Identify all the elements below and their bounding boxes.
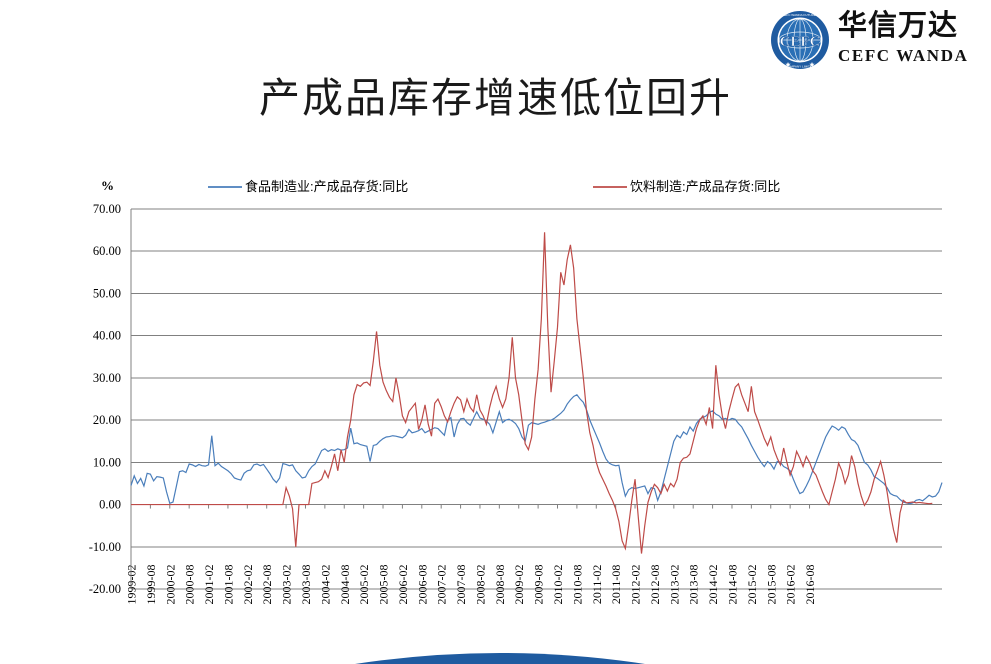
x-tick-label: 2005-08: [377, 565, 391, 605]
y-tick-label: 0.00: [99, 498, 121, 512]
x-tick-label: 2015-02: [745, 565, 759, 605]
x-tick-label: 2006-08: [415, 565, 429, 605]
y-axis-unit-label: %: [101, 178, 114, 193]
x-tick-label: 2001-02: [202, 565, 216, 605]
series-line-beverage-manufacturing: [131, 232, 932, 553]
x-tick-label: 2013-02: [667, 565, 681, 605]
y-tick-label: -20.00: [89, 582, 121, 596]
x-tick-label: 2010-08: [570, 565, 584, 605]
x-tick-label: 2014-02: [706, 565, 720, 605]
chart-container: 70.0060.0050.0040.0030.0020.0010.000.00-…: [0, 0, 991, 620]
line-chart: 70.0060.0050.0040.0030.0020.0010.000.00-…: [0, 0, 991, 620]
y-tick-label: 20.00: [93, 413, 121, 427]
x-tick-label: 2004-02: [318, 565, 332, 605]
x-tick-label: 2002-02: [241, 565, 255, 605]
x-tick-label: 2016-02: [784, 565, 798, 605]
x-tick-label: 2000-08: [183, 565, 197, 605]
x-tick-label: 2004-08: [338, 565, 352, 605]
y-tick-label: 50.00: [93, 286, 121, 300]
gridlines: [131, 209, 942, 589]
legend-label-food-manufacturing: 食品制造业:产成品存货:同比: [245, 179, 408, 194]
y-tick-label: 60.00: [93, 244, 121, 258]
x-tick-label: 2008-02: [473, 565, 487, 605]
x-tick-label: 2015-08: [764, 565, 778, 605]
x-tick-label: 2013-08: [687, 565, 701, 605]
x-tick-label: 2003-08: [299, 565, 313, 605]
x-tick-label: 2012-08: [648, 565, 662, 605]
x-tick-label: 2009-08: [532, 565, 546, 605]
x-tick-label: 2011-08: [609, 565, 623, 605]
x-tick-label: 2011-02: [590, 565, 604, 605]
x-tick-label: 2009-02: [512, 565, 526, 605]
y-tick-label: 40.00: [93, 329, 121, 343]
x-tick-label: 2003-02: [280, 565, 294, 605]
x-tick-label: 2000-02: [163, 565, 177, 605]
x-tick-label: 2012-02: [629, 565, 643, 605]
legend-label-beverage-manufacturing: 饮料制造:产成品存货:同比: [630, 179, 780, 194]
x-tick-label: 2005-02: [357, 565, 371, 605]
x-tick-label: 2010-02: [551, 565, 565, 605]
x-tick-label: 2007-02: [435, 565, 449, 605]
slide-root: CEFC CEFC WANDA FUTURES COMPANY LIMITED …: [0, 0, 991, 664]
x-tick-label: 2008-08: [493, 565, 507, 605]
y-axis-tick-labels: 70.0060.0050.0040.0030.0020.0010.000.00-…: [89, 202, 121, 596]
x-tick-label: 2002-08: [260, 565, 274, 605]
chart-legend: 食品制造业:产成品存货:同比 饮料制造:产成品存货:同比: [208, 179, 780, 194]
x-tick-label: 2001-08: [221, 565, 235, 605]
x-tick-label: 2007-08: [454, 565, 468, 605]
y-tick-label: 70.00: [93, 202, 121, 216]
x-axis-tick-labels: 1999-021999-082000-022000-082001-022001-…: [125, 565, 818, 605]
x-tick-label: 2014-08: [725, 565, 739, 605]
x-tick-label: 2016-08: [803, 565, 817, 605]
y-tick-label: 10.00: [93, 455, 121, 469]
x-tick-label: 1999-08: [144, 565, 158, 605]
y-tick-label: -10.00: [89, 540, 121, 554]
decorative-arc: [0, 618, 991, 664]
y-tick-label: 30.00: [93, 371, 121, 385]
x-tick-label: 2006-02: [396, 565, 410, 605]
